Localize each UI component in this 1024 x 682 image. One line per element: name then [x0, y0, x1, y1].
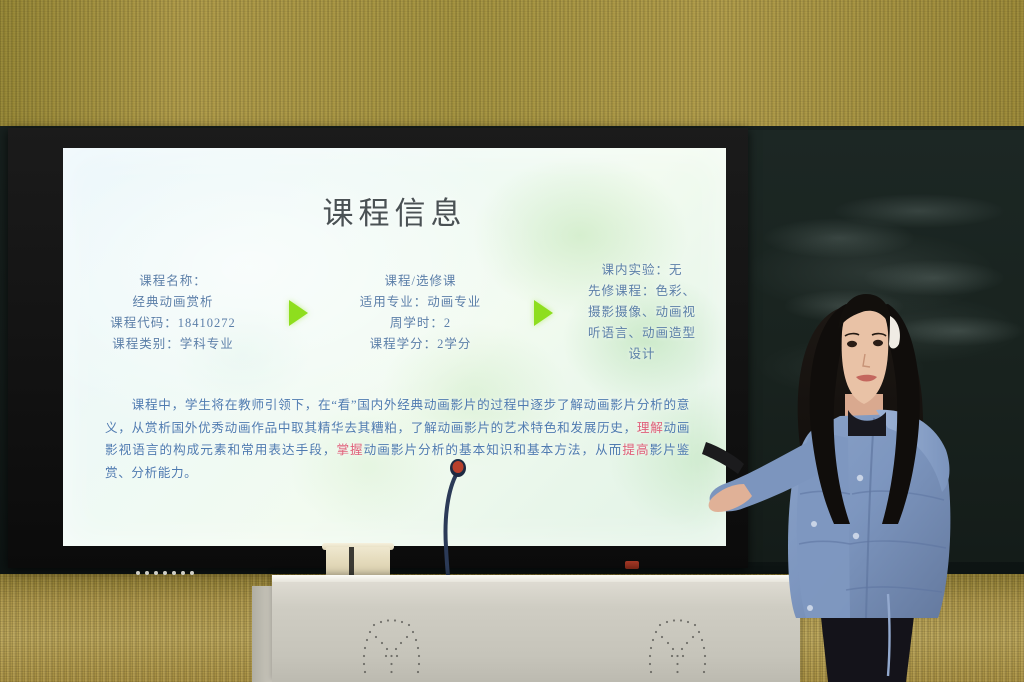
col2-line1: 课程/选修课 [313, 271, 528, 292]
col2-line4: 课程学分：2学分 [313, 334, 528, 355]
arrow-1-wrap [283, 300, 313, 326]
paragraph-text: 动画影片分析的基本知识和基本方法，从而 [364, 443, 623, 457]
column-course-identity: 课程名称： 经典动画赏析 课程代码：18410272 课程类别：学科专业 [63, 271, 283, 355]
slide-paragraph: 课程中，学生将在教师引领下，在“看”国内外经典动画影片的过程中逐步了解动画影片分… [105, 394, 690, 484]
paragraph-text: 课程中，学生将在教师引领下，在“看”国内外经典动画影片的过程中逐步了解动画影片分… [105, 398, 690, 435]
gooseneck-microphone [430, 455, 480, 585]
eye-left [847, 341, 857, 347]
col1-line1: 课程名称： [63, 271, 283, 292]
presentation-slide: 课程信息 课程名称： 经典动画赏析 课程代码：18410272 课程类别：学科专… [63, 148, 726, 546]
play-triangle-icon [534, 300, 553, 326]
col2-line2: 适用专业：动画专业 [313, 292, 528, 313]
presenter-person [700, 278, 1024, 682]
eye-right [873, 340, 883, 346]
paragraph-highlight: 理解 [637, 421, 664, 435]
classroom-scene: 课程信息 课程名称： 经典动画赏析 课程代码：18410272 课程类别：学科专… [0, 0, 1024, 682]
trousers [820, 608, 915, 682]
arrow-2-wrap [528, 300, 558, 326]
presenter-remote-icon [702, 442, 744, 474]
column-course-structure: 课程/选修课 适用专业：动画专业 周学时：2 课程学分：2学分 [313, 271, 528, 355]
desk-cable-clip [625, 561, 639, 569]
hand [709, 484, 752, 512]
col1-line2: 经典动画赏析 [63, 292, 283, 313]
display-control-buttons[interactable] [136, 570, 236, 576]
paragraph-highlight: 提高 [622, 443, 649, 457]
col2-line3: 周学时：2 [313, 313, 528, 334]
play-triangle-icon [289, 300, 308, 326]
slide-title: 课程信息 [63, 188, 726, 233]
slide-columns: 课程名称： 经典动画赏析 课程代码：18410272 课程类别：学科专业 课程/… [63, 260, 726, 365]
col1-line4: 课程类别：学科专业 [63, 334, 283, 355]
paragraph-highlight: 掌握 [336, 443, 363, 457]
speaker-grille-icon [356, 613, 428, 679]
col1-line3: 课程代码：18410272 [63, 313, 283, 334]
